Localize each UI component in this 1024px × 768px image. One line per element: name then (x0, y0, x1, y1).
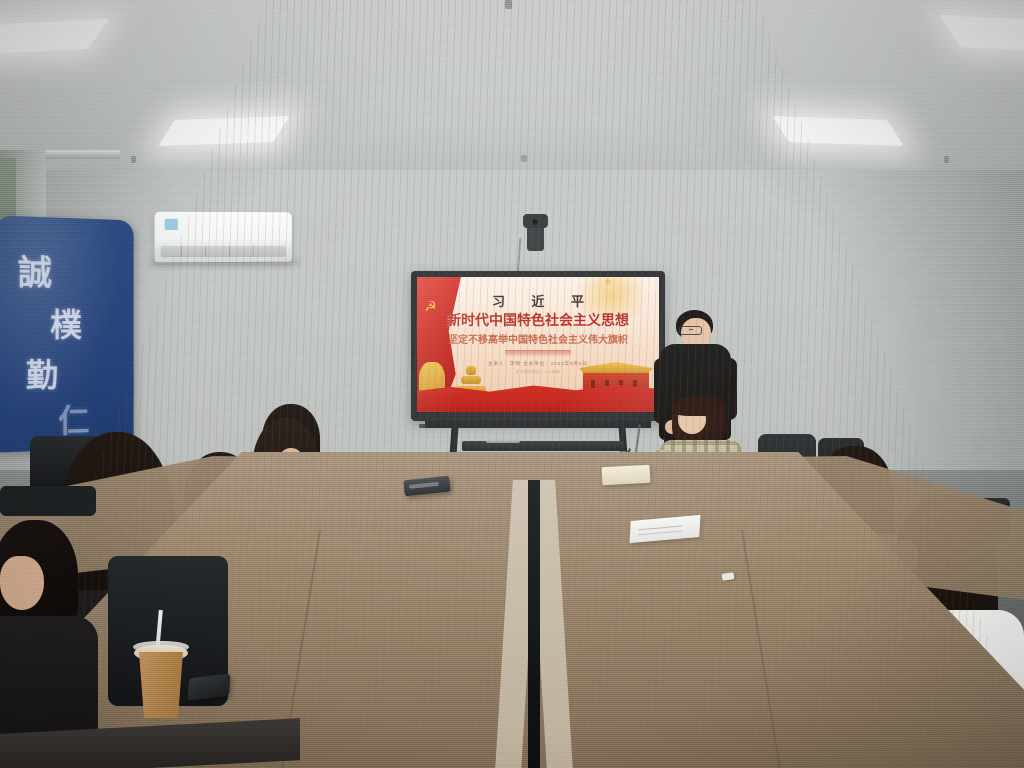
milk-tea-cup[interactable] (136, 652, 186, 718)
meeting-room-photo: 誠 樸 勤 仁 ☭ 习 近 平 新时代中国特色社会主义思想 坚定不移高举中国特色… (0, 0, 1024, 768)
notebook[interactable] (602, 465, 651, 485)
calligraphy-char-3: 勤 (26, 350, 58, 397)
left-student-1-face (0, 556, 44, 610)
calligraphy-board: 誠 樸 勤 仁 (0, 215, 134, 452)
ceiling-sensor-3 (131, 156, 136, 163)
chair-left-armrest-2[interactable] (0, 486, 96, 516)
calligraphy-char-2: 樸 (50, 300, 82, 346)
air-conditioner-badge (165, 219, 178, 230)
calligraphy-char-1: 誠 (18, 245, 52, 295)
ceiling-sensor-4 (944, 156, 949, 163)
cable-trough (528, 480, 540, 768)
